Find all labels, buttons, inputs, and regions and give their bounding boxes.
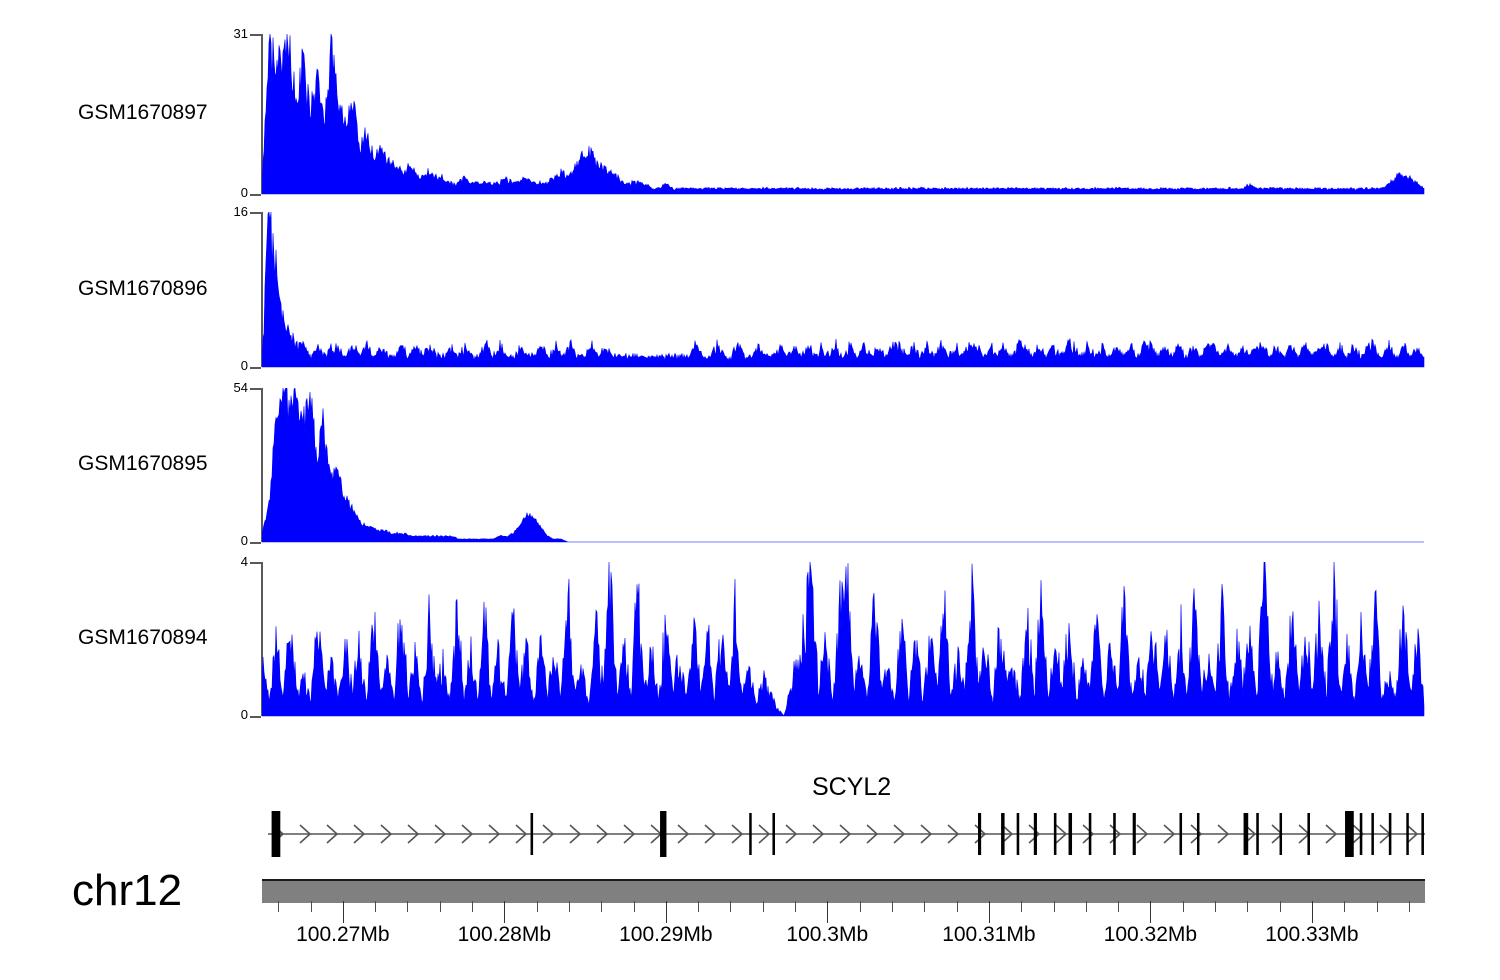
ruler-tick-label: 100.29Mb	[619, 923, 712, 947]
track-sample-label: GSM1670896	[78, 277, 208, 301]
ruler-minor-tick	[1344, 901, 1345, 912]
y-axis-min-label: 0	[214, 707, 248, 722]
ruler-minor-tick	[924, 901, 925, 912]
ruler-minor-tick	[569, 901, 570, 912]
gene-exon	[1244, 813, 1249, 855]
y-axis-top-tick	[250, 34, 261, 36]
ruler-minor-tick	[1054, 901, 1055, 912]
gene-exon	[1017, 813, 1020, 855]
gene-exon	[1406, 813, 1409, 855]
ruler-minor-tick	[440, 901, 441, 912]
gene-model-svg	[0, 805, 1500, 863]
coverage-area-chart	[262, 388, 1425, 543]
coverage-area-chart	[262, 212, 1425, 368]
ruler-tick-label: 100.27Mb	[296, 923, 389, 947]
ruler-minor-tick	[957, 901, 958, 912]
ruler-minor-tick	[1118, 901, 1119, 912]
coverage-plot-area[interactable]	[262, 212, 1425, 368]
gene-exon	[1389, 813, 1392, 855]
track-sample-label: GSM1670895	[78, 452, 208, 476]
ruler-major-tick	[504, 901, 505, 923]
ruler-minor-tick	[634, 901, 635, 912]
genomic-coordinate-ruler: 100.27Mb100.28Mb100.29Mb100.3Mb100.31Mb1…	[0, 901, 1500, 961]
gene-exon	[1197, 813, 1200, 855]
gene-model-track[interactable]	[0, 805, 1500, 863]
ruler-tick-label: 100.3Mb	[786, 923, 868, 947]
ruler-minor-tick	[1409, 901, 1410, 912]
ruler-major-tick	[343, 901, 344, 923]
track-sample-label: GSM1670897	[78, 101, 208, 125]
ruler-minor-tick	[1247, 901, 1248, 912]
gene-exon	[1054, 813, 1057, 855]
ruler-minor-tick	[1377, 901, 1378, 912]
ruler-minor-tick	[278, 901, 279, 912]
coverage-plot-area[interactable]	[262, 388, 1425, 543]
gene-exon	[1113, 813, 1116, 855]
coverage-area-chart	[262, 562, 1425, 717]
gene-exon	[1256, 813, 1259, 855]
y-axis-min-label: 0	[214, 185, 248, 200]
ruler-minor-tick	[795, 901, 796, 912]
ruler-minor-tick	[311, 901, 312, 912]
ruler-major-tick	[1312, 901, 1313, 923]
y-axis-bottom-tick	[250, 542, 261, 544]
ruler-minor-tick	[860, 901, 861, 912]
y-axis-min-label: 0	[214, 533, 248, 548]
gene-exon	[660, 811, 666, 857]
ruler-minor-tick	[763, 901, 764, 912]
ruler-minor-tick	[537, 901, 538, 912]
chromosome-label: chr12	[72, 866, 182, 916]
y-axis-top-tick	[250, 212, 261, 214]
y-axis-bottom-tick	[250, 194, 261, 196]
y-axis-min-label: 0	[214, 358, 248, 373]
ruler-tick-label: 100.32Mb	[1104, 923, 1197, 947]
ruler-minor-tick	[1183, 901, 1184, 912]
coverage-plot-area[interactable]	[262, 34, 1425, 195]
coverage-plot-area[interactable]	[262, 562, 1425, 717]
gene-name-label: SCYL2	[812, 773, 891, 802]
gene-exon	[1360, 813, 1363, 855]
y-axis-bottom-tick	[250, 367, 261, 369]
gene-exon	[1345, 811, 1354, 857]
ruler-minor-tick	[1215, 901, 1216, 912]
ruler-minor-tick	[730, 901, 731, 912]
y-axis-max-label: 4	[214, 554, 248, 569]
y-axis-max-label: 31	[214, 26, 248, 41]
gene-exon	[1421, 813, 1424, 855]
ruler-minor-tick	[698, 901, 699, 912]
gene-exon	[749, 813, 752, 855]
ruler-major-tick	[827, 901, 828, 923]
gene-exon	[1133, 813, 1136, 855]
ruler-minor-tick	[601, 901, 602, 912]
ruler-major-tick	[1150, 901, 1151, 923]
gene-exon	[531, 813, 534, 855]
ruler-minor-tick	[472, 901, 473, 912]
ruler-major-tick	[666, 901, 667, 923]
gene-exon	[978, 813, 981, 855]
gene-exon	[1179, 813, 1182, 855]
gene-exon	[1307, 813, 1310, 855]
chromosome-ideogram-bar	[262, 879, 1425, 903]
y-axis-top-tick	[250, 562, 261, 564]
ruler-minor-tick	[1021, 901, 1022, 912]
gene-exon	[1371, 813, 1374, 855]
ruler-tick-label: 100.28Mb	[458, 923, 551, 947]
gene-exon	[1089, 813, 1092, 855]
y-axis-max-label: 54	[214, 380, 248, 395]
ruler-minor-tick	[375, 901, 376, 912]
gene-exon	[1001, 813, 1004, 855]
y-axis-max-label: 16	[214, 204, 248, 219]
gene-exon	[772, 813, 775, 855]
coverage-area-chart	[262, 34, 1425, 195]
ruler-minor-tick	[892, 901, 893, 912]
track-sample-label: GSM1670894	[78, 626, 208, 650]
y-axis-bottom-tick	[250, 716, 261, 718]
y-axis-top-tick	[250, 388, 261, 390]
ruler-tick-label: 100.31Mb	[942, 923, 1035, 947]
ruler-minor-tick	[1280, 901, 1281, 912]
gene-exon	[272, 811, 281, 857]
ruler-minor-tick	[1086, 901, 1087, 912]
gene-exon	[1280, 813, 1283, 855]
gene-exon	[1034, 813, 1037, 855]
ruler-minor-tick	[407, 901, 408, 912]
ruler-major-tick	[989, 901, 990, 923]
gene-exon	[1069, 813, 1072, 855]
ruler-tick-label: 100.33Mb	[1265, 923, 1358, 947]
